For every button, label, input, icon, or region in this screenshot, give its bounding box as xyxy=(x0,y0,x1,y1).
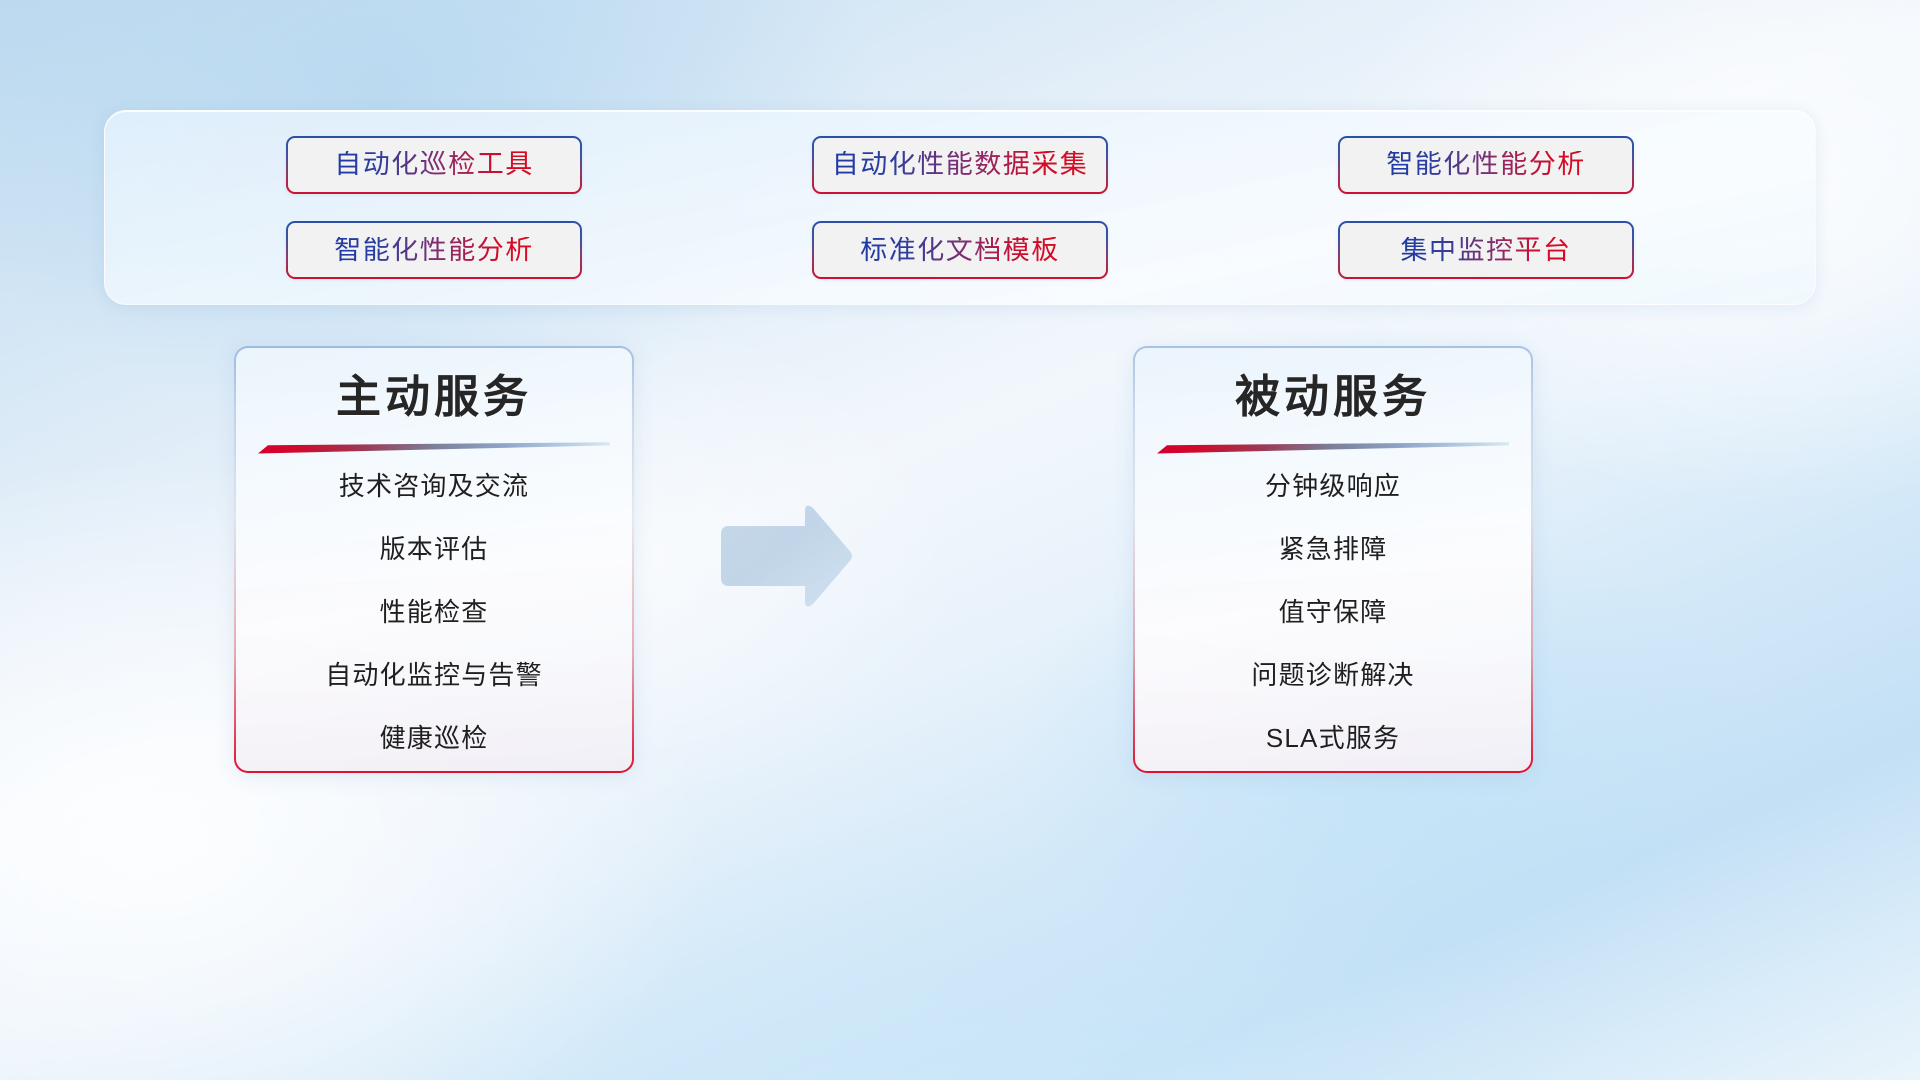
service-list-item: 技术咨询及交流 xyxy=(236,473,632,499)
service-card-title: 被动服务 xyxy=(1135,372,1531,422)
capabilities-pill-grid: 自动化巡检工具 自动化性能数据采集 智能化性能分析 智能化性能分析 标准化文档模… xyxy=(105,111,1815,304)
service-list-item: 紧急排障 xyxy=(1135,536,1531,562)
service-list-item: 问题诊断解决 xyxy=(1135,662,1531,688)
service-item-list: 分钟级响应 紧急排障 值守保障 问题诊断解决 SLA式服务 xyxy=(1135,473,1531,751)
service-list-item: 版本评估 xyxy=(236,536,632,562)
service-list-item: 值守保障 xyxy=(1135,599,1531,625)
service-list-item: 自动化监控与告警 xyxy=(236,662,632,688)
capability-pill-label: 智能化性能分析 xyxy=(1386,151,1586,178)
right-arrow-icon xyxy=(713,500,855,612)
capability-pill[interactable]: 智能化性能分析 xyxy=(1338,136,1634,194)
capability-pill[interactable]: 集中监控平台 xyxy=(1338,221,1634,279)
service-card-reactive: 被动服务 分钟级响应 紧急排障 值守保障 问题诊断解决 SLA式服务 xyxy=(1133,346,1533,773)
service-list-item: 分钟级响应 xyxy=(1135,473,1531,499)
capability-pill[interactable]: 标准化文档模板 xyxy=(812,221,1108,279)
capability-pill[interactable]: 自动化巡检工具 xyxy=(286,136,582,194)
divider-wrapper xyxy=(1135,442,1531,455)
gradient-divider-icon xyxy=(258,442,610,455)
capabilities-panel: 自动化巡检工具 自动化性能数据采集 智能化性能分析 智能化性能分析 标准化文档模… xyxy=(104,110,1816,305)
capability-pill[interactable]: 自动化性能数据采集 xyxy=(812,136,1108,194)
service-item-list: 技术咨询及交流 版本评估 性能检查 自动化监控与告警 健康巡检 xyxy=(236,473,632,751)
service-card-title: 主动服务 xyxy=(236,372,632,422)
service-list-item: 健康巡检 xyxy=(236,725,632,751)
capability-pill-label: 智能化性能分析 xyxy=(334,237,534,264)
capability-pill-label: 自动化性能数据采集 xyxy=(832,151,1089,178)
capability-pill-label: 集中监控平台 xyxy=(1401,237,1572,264)
gradient-divider-icon xyxy=(1157,442,1509,455)
service-list-item: SLA式服务 xyxy=(1135,725,1531,751)
service-card-proactive: 主动服务 技术咨询及交流 版本评估 性能检查 自动化监控与告警 健康巡检 xyxy=(234,346,634,773)
divider-wrapper xyxy=(236,442,632,455)
capability-pill-label: 标准化文档模板 xyxy=(860,237,1060,264)
capability-pill-label: 自动化巡检工具 xyxy=(334,151,534,178)
capability-pill[interactable]: 智能化性能分析 xyxy=(286,221,582,279)
service-list-item: 性能检查 xyxy=(236,599,632,625)
